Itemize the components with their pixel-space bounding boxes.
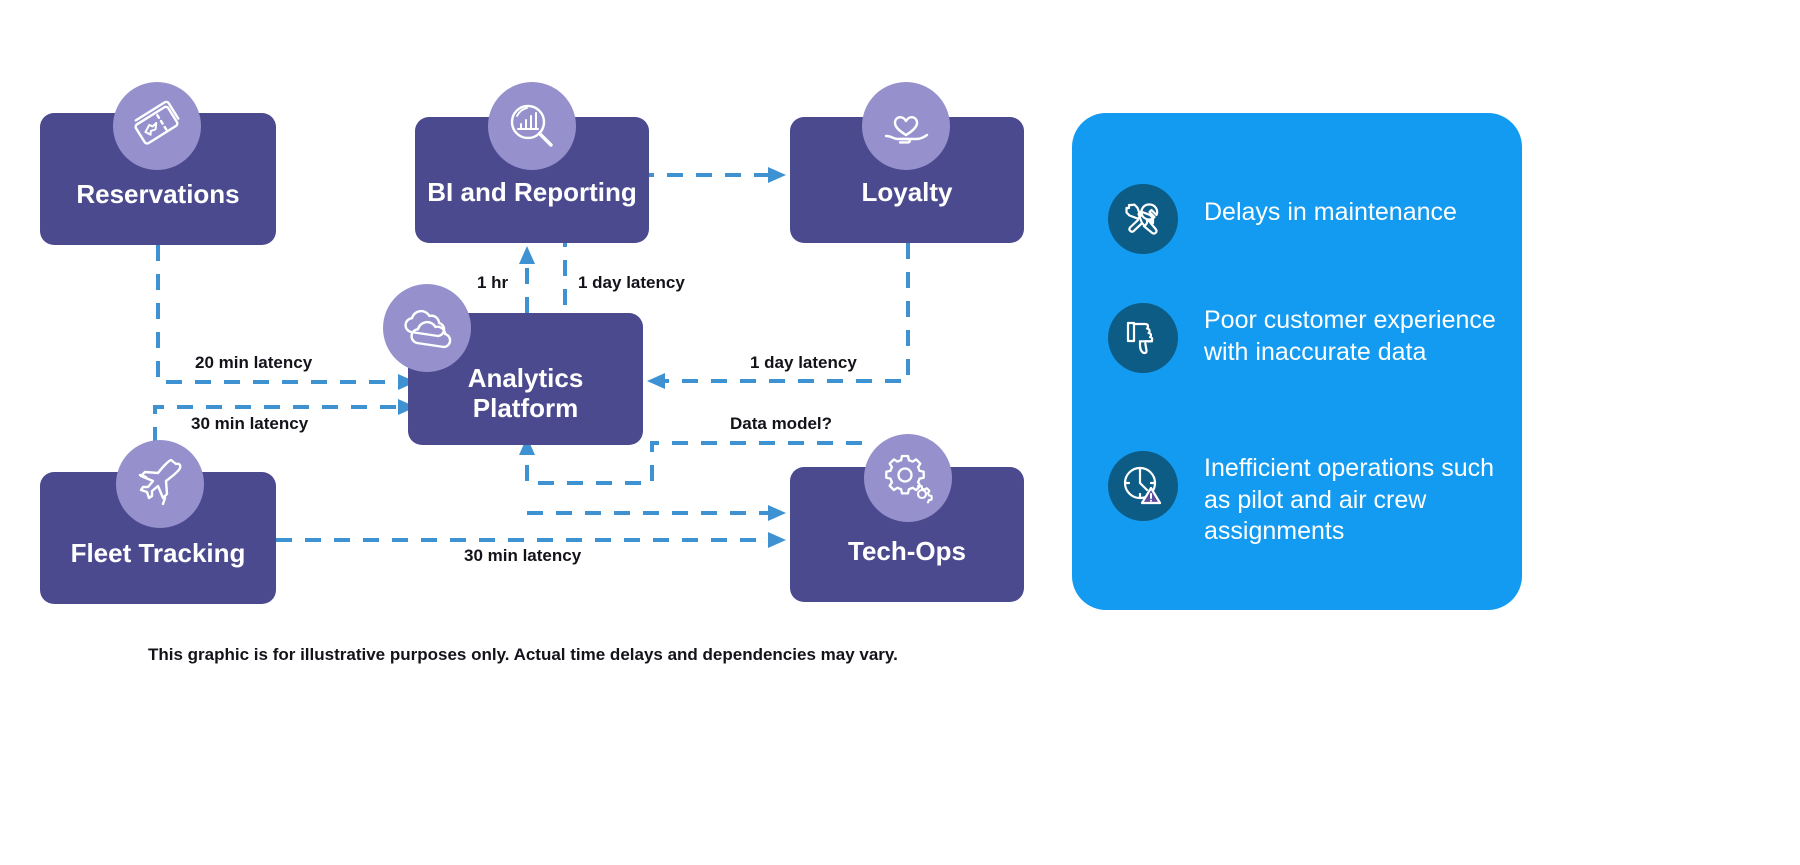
insight-item-label: Poor customer experience with inaccurate… — [1204, 303, 1500, 368]
arrowhead-fleet-techops — [768, 532, 786, 548]
flow-label-20-min-latency: 20 min latency — [190, 353, 317, 373]
arrowhead-bi-loyalty — [768, 167, 786, 183]
gears-icon — [864, 434, 952, 522]
airline-ticket-icon — [113, 82, 201, 170]
flow-label-1-hr: 1 hr — [472, 273, 513, 293]
node-reservations-label: Reservations — [40, 179, 276, 245]
clock-warning-icon — [1108, 451, 1178, 521]
flow-label-30-min-latency-techops: 30 min latency — [459, 546, 586, 566]
footer-disclaimer: This graphic is for illustrative purpose… — [148, 645, 898, 665]
thumbs-down-icon — [1108, 303, 1178, 373]
magnifier-bar-chart-icon — [488, 82, 576, 170]
node-analytics-platform-label: Analytics Platform — [408, 363, 643, 445]
heart-in-hand-icon — [862, 82, 950, 170]
clouds-icon — [383, 284, 471, 372]
insight-item-poor-customer-experience: Poor customer experience with inaccurate… — [1108, 303, 1500, 373]
insight-item-label: Delays in maintenance — [1204, 184, 1457, 229]
airplane-icon — [116, 440, 204, 528]
arrowhead-loyalty-analytics — [647, 373, 665, 389]
arrowhead-analytics-techops — [768, 505, 786, 521]
insight-item-inefficient-operations: Inefficient operations such as pilot and… — [1108, 451, 1500, 548]
insights-panel: Delays in maintenance Poor customer expe… — [1072, 113, 1522, 610]
insight-item-delays-in-maintenance: Delays in maintenance — [1108, 184, 1500, 254]
node-fleet-tracking-label: Fleet Tracking — [40, 538, 276, 604]
arrowhead-analytics-bi — [519, 246, 535, 264]
insight-item-label: Inefficient operations such as pilot and… — [1204, 451, 1500, 548]
flow-label-1-day-latency-loyalty-analytics: 1 day latency — [745, 353, 862, 373]
flow-label-30-min-latency-fleet: 30 min latency — [186, 414, 313, 434]
flow-label-1-day-latency-bi-loyalty: 1 day latency — [573, 273, 690, 293]
node-loyalty-label: Loyalty — [790, 177, 1024, 243]
tools-icon — [1108, 184, 1178, 254]
diagram-canvas: Reservations BI and Reporting — [0, 0, 1800, 865]
node-tech-ops-label: Tech-Ops — [790, 536, 1024, 602]
node-bi-and-reporting-label: BI and Reporting — [415, 177, 649, 243]
flow-label-data-model: Data model? — [725, 414, 837, 434]
